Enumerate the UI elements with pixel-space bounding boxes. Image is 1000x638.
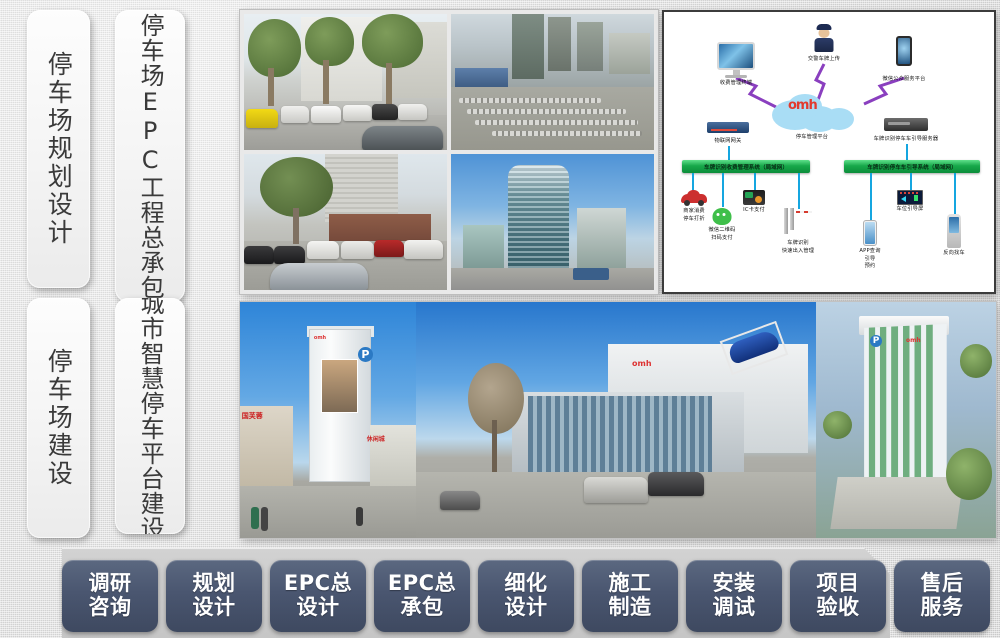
card-parking-epc-contract[interactable]: 停车场EPC工程总承包 [115, 10, 185, 302]
iot-gateway-label: 物联网网关 [715, 138, 742, 146]
connector [954, 173, 956, 215]
traffic-police-plate-upload-label: 交警车牌上传 [808, 56, 840, 64]
card-label: 停车场EPC工程总承包 [136, 13, 164, 300]
omh-logo: omh [314, 335, 326, 341]
rendering-tall-parking-tower: P omh 国芙蓉 休闲城 [240, 302, 416, 538]
card-label: 停车场建设 [44, 348, 74, 488]
wechat-icon [713, 208, 732, 225]
step-construction-manufacturing[interactable]: 施工 制造 [582, 560, 678, 632]
app-query-guidance-booking-label: APP查询引导预约 [859, 248, 880, 271]
connector [728, 146, 730, 160]
connector [722, 173, 724, 207]
ic-card-payment-label: IC卡支付 [743, 207, 765, 215]
step-detailed-design[interactable]: 细化 设计 [478, 560, 574, 632]
photo-surface-parking-lot-with-trees [244, 14, 447, 150]
omh-logo: omh [788, 98, 817, 113]
plate-recognition-guidance-system-bar: 车牌识别停车车引导系统（局域网） [844, 160, 980, 173]
card-label: 城市智慧停车平台建设 [136, 298, 164, 534]
charging-management-terminal-label: 收费管理终端 [720, 80, 752, 88]
wechat-qr-payment-label: 微信二维码扫码支付 [709, 227, 736, 242]
app-phone-icon [863, 220, 877, 246]
card-smart-city-parking-platform[interactable]: 城市智慧停车平台建设 [115, 298, 185, 534]
step-after-sales-service[interactable]: 售后 服务 [894, 560, 990, 632]
smartphone-icon [896, 36, 912, 66]
step-research-consulting[interactable]: 调研 咨询 [62, 560, 158, 632]
ic-card-icon [743, 190, 765, 205]
parking-management-platform-label: 停车管理平台 [796, 134, 828, 142]
omh-logo: omh [632, 359, 652, 368]
police-officer-icon [815, 24, 834, 52]
router-icon [707, 122, 749, 133]
barrier-gate-icon [784, 208, 812, 234]
photo-glass-office-tower [451, 154, 654, 290]
card-parking-construction[interactable]: 停车场建设 [27, 298, 90, 538]
card-label: 停车场规划设计 [44, 51, 74, 247]
wechat-public-service-platform-label: 微信公众服务平台 [882, 76, 925, 84]
step-epc-contracting[interactable]: EPC总 承包 [374, 560, 470, 632]
step-epc-design[interactable]: EPC总 设计 [270, 560, 366, 632]
card-parking-planning-design[interactable]: 停车场规划设计 [27, 10, 90, 288]
building-sign-text: 国芙蓉 [242, 411, 263, 421]
connector [798, 173, 800, 209]
system-architecture-diagram: 收费管理终端 交警车牌上传 微信公众服务平台 omh 停车管理平台 物联网网关 … [662, 10, 996, 294]
connector [870, 173, 872, 221]
reverse-car-finding-label: 反向找车 [943, 250, 965, 258]
plate-recognition-charging-system-bar: 车牌识别收费管理系统（局域网） [682, 160, 810, 173]
rendering-aerial-green-tower: P omh [816, 302, 996, 538]
step-project-acceptance[interactable]: 项目 验收 [790, 560, 886, 632]
parking-sign-icon: P [870, 335, 882, 347]
connector [910, 173, 912, 191]
building-sign-text: 休闲城 [367, 434, 385, 443]
step-installation-debugging[interactable]: 安装 调试 [686, 560, 782, 632]
led-display-icon [897, 190, 923, 205]
plate-recognition-fast-entry-exit-label: 车牌识别快速出入管理 [782, 240, 814, 255]
merchant-consumption-parking-discount-label: 商家消费停车打折 [683, 208, 705, 223]
photo-parking-lot-near-brick-building [244, 154, 447, 290]
parking-space-guide-screen-label: 车位引导屏 [897, 206, 924, 214]
process-steps-row: 调研 咨询 规划 设计 EPC总 设计 EPC总 承包 细化 设计 施工 制造 … [62, 560, 990, 638]
rendering-wide-parking-garage: omh [416, 302, 816, 538]
project-photo-collage [240, 10, 658, 294]
photo-aerial-city-parking-view [451, 14, 654, 150]
architecture-renderings-panel: P omh 国芙蓉 休闲城 omh P omh [240, 302, 996, 538]
plate-recognition-guidance-server-label: 车牌识别停车车引导服务器 [874, 136, 939, 144]
system-label: 车牌识别停车车引导系统（局域网） [867, 163, 957, 171]
monitor-icon [717, 42, 755, 78]
step-planning-design[interactable]: 规划 设计 [166, 560, 262, 632]
connector [754, 173, 756, 191]
cloud-shape [824, 108, 854, 130]
system-label: 车牌识别收费管理系统（局域网） [704, 163, 788, 171]
kiosk-icon [947, 214, 961, 248]
server-icon [884, 118, 928, 131]
connector [692, 173, 694, 191]
omh-logo: omh [906, 337, 921, 344]
connector [906, 144, 908, 160]
parking-sign-icon: P [358, 347, 373, 362]
red-car-icon [681, 190, 707, 206]
